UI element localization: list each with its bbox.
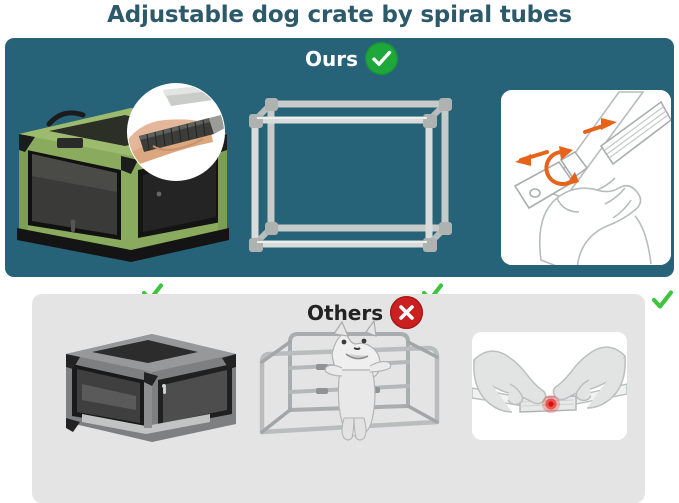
hands-adjusting-tube-lineart [501, 90, 671, 265]
hands-pinched-by-tube-lineart [472, 332, 627, 440]
check-icon [651, 289, 674, 310]
ours-header: Ours [305, 42, 398, 75]
others-panel: Others [32, 294, 645, 503]
infographic-page: Adjustable dog crate by spiral tubes Our… [0, 0, 679, 503]
tube-frame-skeleton-illustration [247, 82, 477, 272]
page-title: Adjustable dog crate by spiral tubes [0, 2, 679, 28]
green-fabric-dog-crate-photo [13, 82, 235, 272]
ours-label: Ours [305, 47, 358, 71]
gray-fabric-dog-crate-photo [60, 328, 240, 446]
dog-in-collapsing-frame-illustration [250, 314, 460, 454]
check-circle-icon [365, 42, 398, 75]
ours-panel: Ours [5, 38, 674, 277]
